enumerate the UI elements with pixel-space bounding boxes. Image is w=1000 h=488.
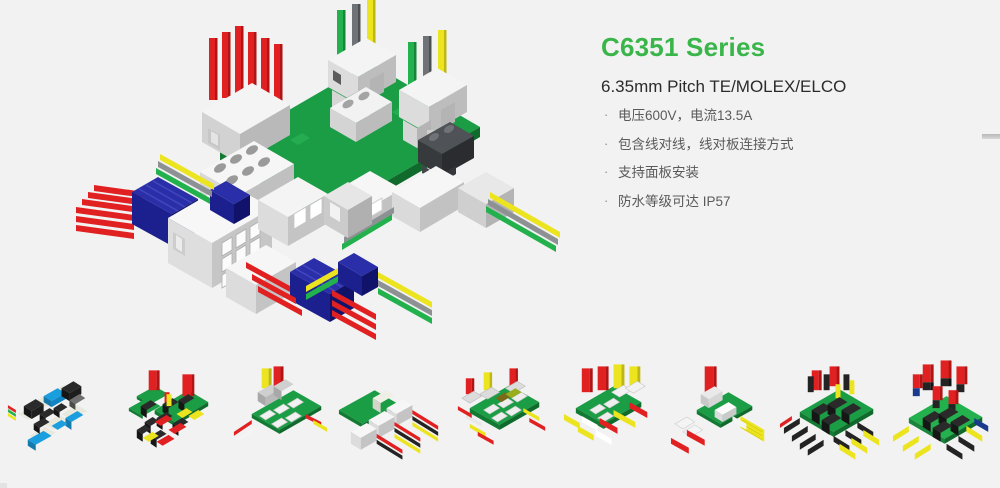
thumbnail-connector-set-white-red-cables[interactable] xyxy=(333,352,444,480)
product-thumbnail-strip xyxy=(0,352,1000,480)
list-item: · 电压600V，电流13.5A xyxy=(598,108,958,124)
hero-illustration xyxy=(40,0,560,350)
feature-text: 防水等级可达 IP57 xyxy=(618,194,958,210)
bullet-dot-icon: · xyxy=(598,194,618,209)
feature-text: 支持面板安装 xyxy=(618,165,958,181)
product-spec-panel: C6351 Series 6.35mm Pitch TE/MOLEX/ELCO … xyxy=(598,34,958,222)
thumbnail-connector-set-dense-red-black-array[interactable] xyxy=(778,352,889,480)
bullet-dot-icon: · xyxy=(598,165,618,180)
thumbnail-connector-set-red-yellow-headers[interactable] xyxy=(222,352,333,480)
feature-text: 包含线对线，线对板连接方式 xyxy=(618,137,958,153)
c6351-connector-exploded-isometric-illustration xyxy=(40,0,560,350)
feature-text: 电压600V，电流13.5A xyxy=(618,108,958,124)
right-edge-marker xyxy=(982,134,1000,139)
list-item: · 包含线对线，线对板连接方式 xyxy=(598,137,958,153)
product-showcase-page: C6351 Series 6.35mm Pitch TE/MOLEX/ELCO … xyxy=(0,0,1000,488)
thumbnail-connector-set-yellow-red-board[interactable] xyxy=(444,352,555,480)
feature-list: · 电压600V，电流13.5A · 包含线对线，线对板连接方式 · 支持面板安… xyxy=(598,108,958,209)
thumbnail-connector-set-red-single-board[interactable] xyxy=(667,352,778,480)
thumbnail-connector-set-tall-red-stack[interactable] xyxy=(889,352,1000,480)
bottom-left-marker xyxy=(0,483,7,488)
product-subtitle: 6.35mm Pitch TE/MOLEX/ELCO xyxy=(601,77,958,97)
list-item: · 防水等级可达 IP57 xyxy=(598,194,958,210)
page-title: C6351 Series xyxy=(601,34,958,60)
thumbnail-connector-set-blue-black[interactable] xyxy=(0,352,111,480)
thumbnail-connector-set-yellow-white-red[interactable] xyxy=(556,352,667,480)
list-item: · 支持面板安装 xyxy=(598,165,958,181)
thumbnail-connector-set-red-black-pcb[interactable] xyxy=(111,352,222,480)
bullet-dot-icon: · xyxy=(598,108,618,123)
bullet-dot-icon: · xyxy=(598,137,618,152)
